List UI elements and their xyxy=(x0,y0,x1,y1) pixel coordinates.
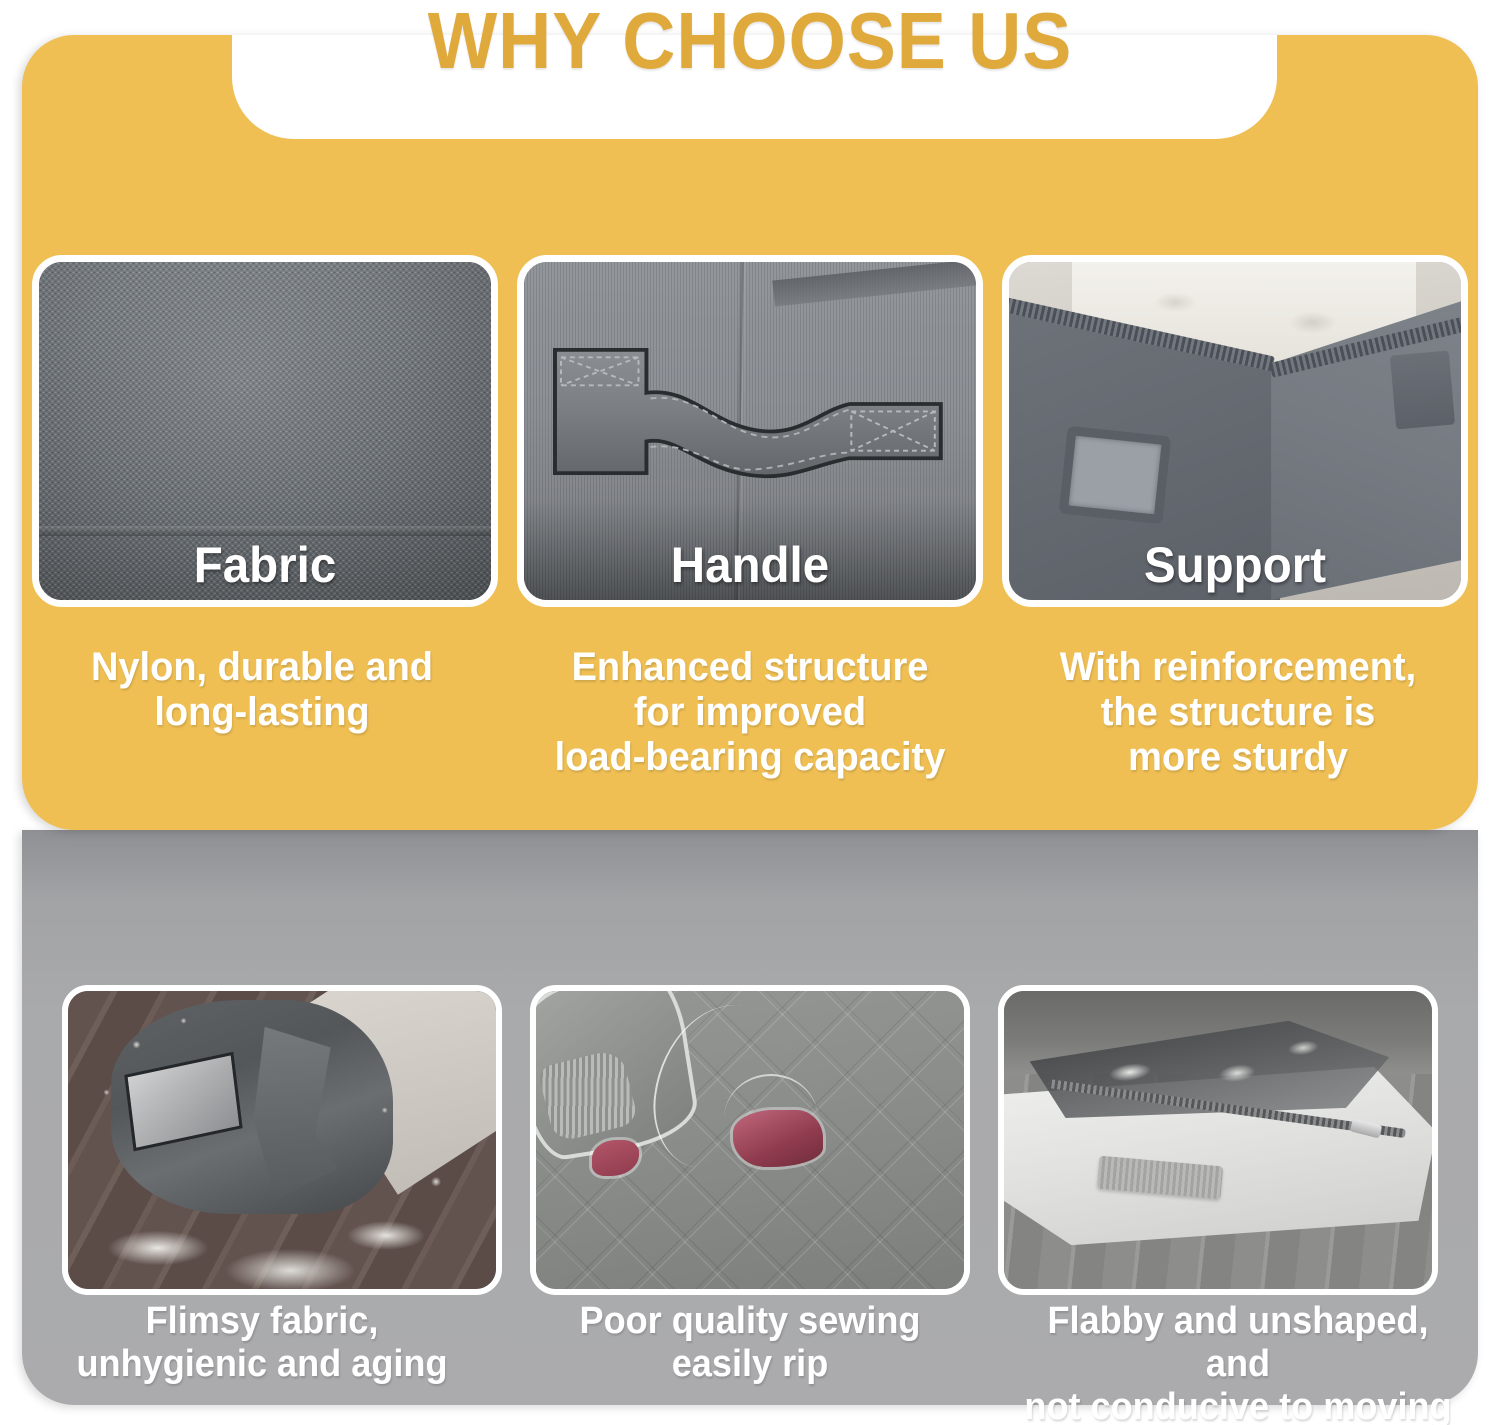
damaged-bag-on-wood-floor-photo xyxy=(68,991,496,1289)
other-product-caption-row: Flimsy fabric, unhygienic and aging Poor… xyxy=(0,1300,1500,1425)
label-holder-window xyxy=(1059,426,1172,524)
our-product-card-row: Fabric xyxy=(0,255,1500,607)
torn-quilted-fabric-photo xyxy=(536,991,964,1289)
caption-poor-sewing: Poor quality sewing easily rip xyxy=(524,1300,976,1425)
other-card-torn-quilt[interactable] xyxy=(530,985,970,1295)
side-handle xyxy=(1390,351,1455,430)
other-card-saggy-bag[interactable] xyxy=(998,985,1438,1295)
why-choose-us-infographic: WHY CHOOSE US Our Product Fabric xyxy=(0,0,1500,1425)
page-title: WHY CHOOSE US xyxy=(60,0,1440,87)
caption-handle: Enhanced structure for improved load-bea… xyxy=(524,645,976,779)
our-product-caption-row: Nylon, durable and long-lasting Enhanced… xyxy=(0,645,1500,779)
caption-flimsy-fabric: Flimsy fabric, unhygienic and aging xyxy=(36,1300,488,1425)
product-card-support[interactable]: Support xyxy=(1002,255,1468,607)
product-card-handle[interactable]: Handle xyxy=(517,255,983,607)
caption-fabric: Nylon, durable and long-lasting xyxy=(36,645,488,779)
card-label-handle: Handle xyxy=(535,536,964,594)
product-card-fabric[interactable]: Fabric xyxy=(32,255,498,607)
other-product-card-row xyxy=(0,985,1500,1295)
handle-strap-shape xyxy=(551,333,949,492)
saggy-white-bag-photo xyxy=(1004,991,1432,1289)
fabric-seam-line xyxy=(39,526,491,536)
other-card-damaged-bag[interactable] xyxy=(62,985,502,1295)
box-top-edge xyxy=(772,262,976,306)
card-label-fabric: Fabric xyxy=(50,536,479,594)
loose-thread-2 xyxy=(724,1074,818,1163)
caption-flabby-shape: Flabby and unshaped, and not conducive t… xyxy=(1012,1300,1464,1425)
caption-support: With reinforcement, the structure is mor… xyxy=(1012,645,1464,779)
debris-chips xyxy=(68,991,496,1289)
card-label-support: Support xyxy=(1020,536,1449,594)
